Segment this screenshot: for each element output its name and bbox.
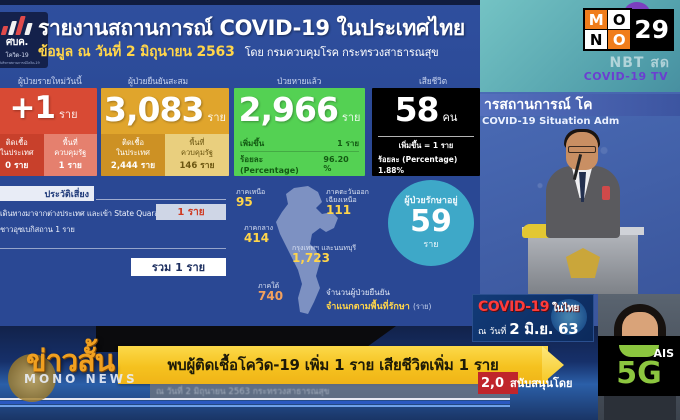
breakdown-label-l1: ติดเชื้อ	[6, 138, 28, 147]
breakdown-label-l2: ในประเทศ	[116, 148, 150, 157]
breakdown-quarantine: พื้นที่ ควบคุมรัฐ 146 ราย	[165, 134, 229, 176]
row-increase: เพิ่มขึ้น = 1 ราย	[378, 139, 474, 153]
row-key: ร้อยละ (Percentage) 1.88%	[378, 154, 474, 175]
sub-headline-ticker: ณ วันที่ 2 มิถุนายน 2563 กระทรวงสาธารณสุ…	[150, 384, 510, 398]
treating-value: 59	[410, 207, 452, 237]
breakdown-label-l2: ในประเทศ	[0, 148, 34, 157]
stat-value-row: 3,083 ราย	[101, 88, 229, 134]
thumbnail-title: COVID-19	[478, 299, 549, 315]
thumbnail-date-prefix: ณ วันที่	[478, 327, 506, 337]
mono-letter-n: N	[585, 30, 607, 49]
stat-breakdown-cumulative: ติดเชื้อ ในประเทศ 2,444 ราย พื้นที่ ควบค…	[101, 134, 229, 176]
row-key: ร้อยละ (Percentage)	[240, 153, 323, 175]
page-subtitle: ข้อมูล ณ วันที่ 2 มิถุนายน 2563 โดย กรมค…	[38, 41, 438, 63]
news-program-logo: ข่าวสั้น MONO NEWS	[10, 330, 170, 404]
broadcast-screen: ศบค. โควิด-19 ศูนย์บริหารสถานการณ์โควิด-…	[0, 0, 680, 420]
row-percentage: ร้อยละ (Percentage) 96.20 %	[240, 151, 359, 176]
row-key: เพิ่มขึ้น	[240, 137, 264, 150]
stat-card-recovered: 2,966 ราย เพิ่มขึ้น 1 ราย ร้อยละ (Percen…	[234, 88, 365, 176]
stat-card-new-cases: +1 ราย ติดเชื้อ ในประเทศ 0 ราย พื้นที่ ค…	[0, 88, 97, 176]
stat-breakdown-new: ติดเชื้อ ในประเทศ 0 ราย พื้นที่ ควบคุมรั…	[0, 134, 97, 176]
risk-total-value: รวม 1 ราย	[152, 258, 205, 276]
stat-card-deaths: 58 คน เพิ่มขึ้น = 1 ราย ร้อยละ (Percenta…	[372, 88, 480, 176]
map-caption-line2-wrap: จำแนกตามพื้นที่รักษา (ราย)	[326, 299, 432, 313]
region-value: 1,723	[292, 252, 356, 265]
breakdown-label-l2: ควบคุมรัฐ	[181, 148, 213, 157]
row-percentage: ร้อยละ (Percentage) 1.88%	[378, 153, 474, 176]
press-title-bar: ารสถานการณ์ โค	[480, 94, 680, 116]
breakdown-value: 0 ราย	[5, 158, 28, 172]
stat-unit-new: ราย	[59, 105, 78, 123]
news-logo-subtitle: MONO NEWS	[24, 372, 138, 386]
risk-history-header: ประวัติเสี่ยง	[0, 186, 94, 201]
subtitle-date: ข้อมูล ณ วันที่ 2 มิถุนายน 2563	[38, 44, 235, 60]
risk-count-tag: 1 ราย	[156, 204, 226, 220]
breakdown-label-l1: พื้นที่	[189, 138, 204, 147]
breakdown-domestic: ติดเชื้อ ในประเทศ 2,444 ราย	[101, 134, 165, 176]
stat-label-recovered: ป่วยหายแล้ว	[277, 74, 321, 88]
spokesperson	[540, 132, 626, 292]
map-caption-line1: จำนวนผู้ป่วยยืนยัน	[326, 286, 432, 299]
risk-divider-bottom	[0, 248, 226, 249]
badge-bars-icon	[0, 15, 34, 35]
row-value: 1 ราย	[337, 137, 359, 150]
stat-value-recovered: 2,966	[239, 90, 338, 129]
stat-value-cumulative: 3,083	[104, 90, 203, 129]
region-value: 111	[326, 204, 369, 217]
covid-thumbnail-card: COVID-19ในไทย ณ วันที่ 2 มิ.ย. 63	[472, 294, 594, 342]
stat-unit-recovered: ราย	[342, 108, 361, 126]
mono-letter-m: M	[585, 10, 607, 29]
ais-5g-sponsor-logo: AIS 5G	[598, 336, 680, 396]
risk-line-2: ชาวอุซเบกิสถาน 1 ราย	[0, 224, 232, 236]
map-region-bangkok: กรุงเทพฯ และนนทบุรี 1,723	[292, 244, 356, 265]
thumbnail-title-wrap: COVID-19ในไทย	[478, 299, 579, 316]
thumbnail-title-suffix: ในไทย	[552, 303, 579, 314]
row-increase: เพิ่มขึ้น 1 ราย	[240, 136, 359, 151]
mono-letter-grid: M O N O	[583, 8, 632, 51]
press-subtitle-bar: COVID-19 Situation Adm	[480, 116, 680, 127]
breakdown-label-l1: พื้นที่	[63, 138, 78, 147]
sponsor-label: สนับสนุนโดย	[510, 374, 572, 392]
map-caption-line2: จำแนกตามพื้นที่รักษา	[326, 302, 410, 312]
stat-unit-deaths: คน	[443, 108, 458, 126]
mono-letter-o2: O	[608, 30, 630, 49]
breakdown-quarantine: พื้นที่ ควบคุมรัฐ 1 ราย	[44, 134, 98, 176]
region-label-l1: ภาคตะวันออก	[326, 188, 369, 196]
breakdown-label-l2: ควบคุมรัฐ	[54, 148, 86, 157]
region-value: 95	[236, 196, 265, 209]
risk-divider	[96, 199, 226, 200]
sub-headline-text: ณ วันที่ 2 มิถุนายน 2563 กระทรวงสาธารณสุ…	[156, 384, 330, 398]
map-region-north: ภาคเหนือ 95	[236, 188, 265, 209]
mono-letter-o1: O	[608, 10, 630, 29]
row-key: เพิ่มขึ้น = 1 ราย	[399, 140, 454, 152]
badge-subtitle: โควิด-19	[6, 50, 29, 60]
stat-label-cumulative: ผู้ป่วยยืนยันสะสม	[128, 74, 188, 88]
stat-card-cumulative: 3,083 ราย ติดเชื้อ ในประเทศ 2,444 ราย พื…	[101, 88, 229, 176]
row-value: 96.20 %	[323, 155, 359, 173]
risk-count-value: 1 ราย	[177, 205, 204, 220]
map-caption-unit: (ราย)	[413, 302, 432, 311]
thailand-map-section: ภาคเหนือ 95 ภาคตะวันออก เฉียงเหนือ 111 ภ…	[236, 182, 480, 326]
thumbnail-date: 2 มิ.ย. 63	[509, 320, 578, 338]
stat-rows-recovered: เพิ่มขึ้น 1 ราย ร้อยละ (Percentage) 96.2…	[234, 134, 365, 176]
headline-text: พบผู้ติดเชื้อโควิด-19 เพิ่ม 1 ราย เสียชี…	[167, 353, 498, 377]
mono-channel-number: 29	[632, 9, 674, 51]
map-caption: จำนวนผู้ป่วยยืนยัน จำแนกตามพื้นที่รักษา …	[326, 286, 432, 313]
ais-5g-text: 5G	[616, 360, 662, 388]
map-region-central: ภาคกลาง 414	[244, 224, 273, 245]
badge-fineprint: ศูนย์บริหารสถานการณ์โควิด-19	[0, 61, 40, 66]
breakdown-value: 1 ราย	[59, 158, 82, 172]
breakdown-label-l1: ติดเชื้อ	[122, 138, 144, 147]
map-region-northeast: ภาคตะวันออก เฉียงเหนือ 111	[326, 188, 369, 217]
covid-tv-label: COVID-19 TV	[584, 70, 668, 83]
treating-unit: ราย	[423, 237, 438, 251]
stat-value-new: +1	[9, 90, 55, 126]
region-value: 414	[244, 232, 273, 245]
stat-value-deaths: 58	[395, 90, 439, 129]
currently-treating-badge: ผู้ป่วยรักษาอยู่ 59 ราย	[388, 180, 474, 266]
badge-title: ศบค.	[6, 35, 28, 50]
map-region-south: ภาคใต้ 740	[258, 282, 283, 303]
spokesperson-lapel-pin	[602, 186, 610, 200]
breakdown-domestic: ติดเชื้อ ในประเทศ 0 ราย	[0, 134, 44, 176]
mono29-logo: M O N O 29	[583, 8, 674, 51]
stat-value-row: 2,966 ราย	[234, 88, 365, 134]
stat-rows-deaths: เพิ่มขึ้น = 1 ราย ร้อยละ (Percentage) 1.…	[378, 136, 474, 176]
breakdown-value: 146 ราย	[179, 158, 214, 172]
subtitle-source: โดย กรมควบคุมโรค กระทรวงสาธารณสุข	[245, 46, 439, 59]
press-conference-video: ารสถานการณ์ โค COVID-19 Situation Adm	[480, 92, 680, 326]
stat-unit-cumulative: ราย	[207, 108, 226, 126]
broadcast-right-column: M O N O 29 NBT สด COVID-19 TV ารสถานการณ…	[480, 0, 680, 326]
stat-value-row: +1 ราย	[0, 88, 97, 134]
breakdown-value: 2,444 ราย	[111, 158, 155, 172]
stat-value-row: 58 คน	[372, 88, 480, 134]
stat-label-new: ผู้ป่วยรายใหม่วันนี้	[18, 74, 82, 88]
glasses-icon	[568, 146, 596, 153]
region-value: 740	[258, 290, 283, 303]
risk-history-title: ประวัติเสี่ยง	[44, 187, 89, 201]
covid-infographic-panel: ศบค. โควิด-19 ศูนย์บริหารสถานการณ์โควิด-…	[0, 0, 480, 326]
risk-total-tag: รวม 1 ราย	[131, 258, 226, 276]
stat-label-deaths: เสียชีวิต	[419, 74, 447, 88]
thumbnail-date-wrap: ณ วันที่ 2 มิ.ย. 63	[478, 317, 578, 341]
